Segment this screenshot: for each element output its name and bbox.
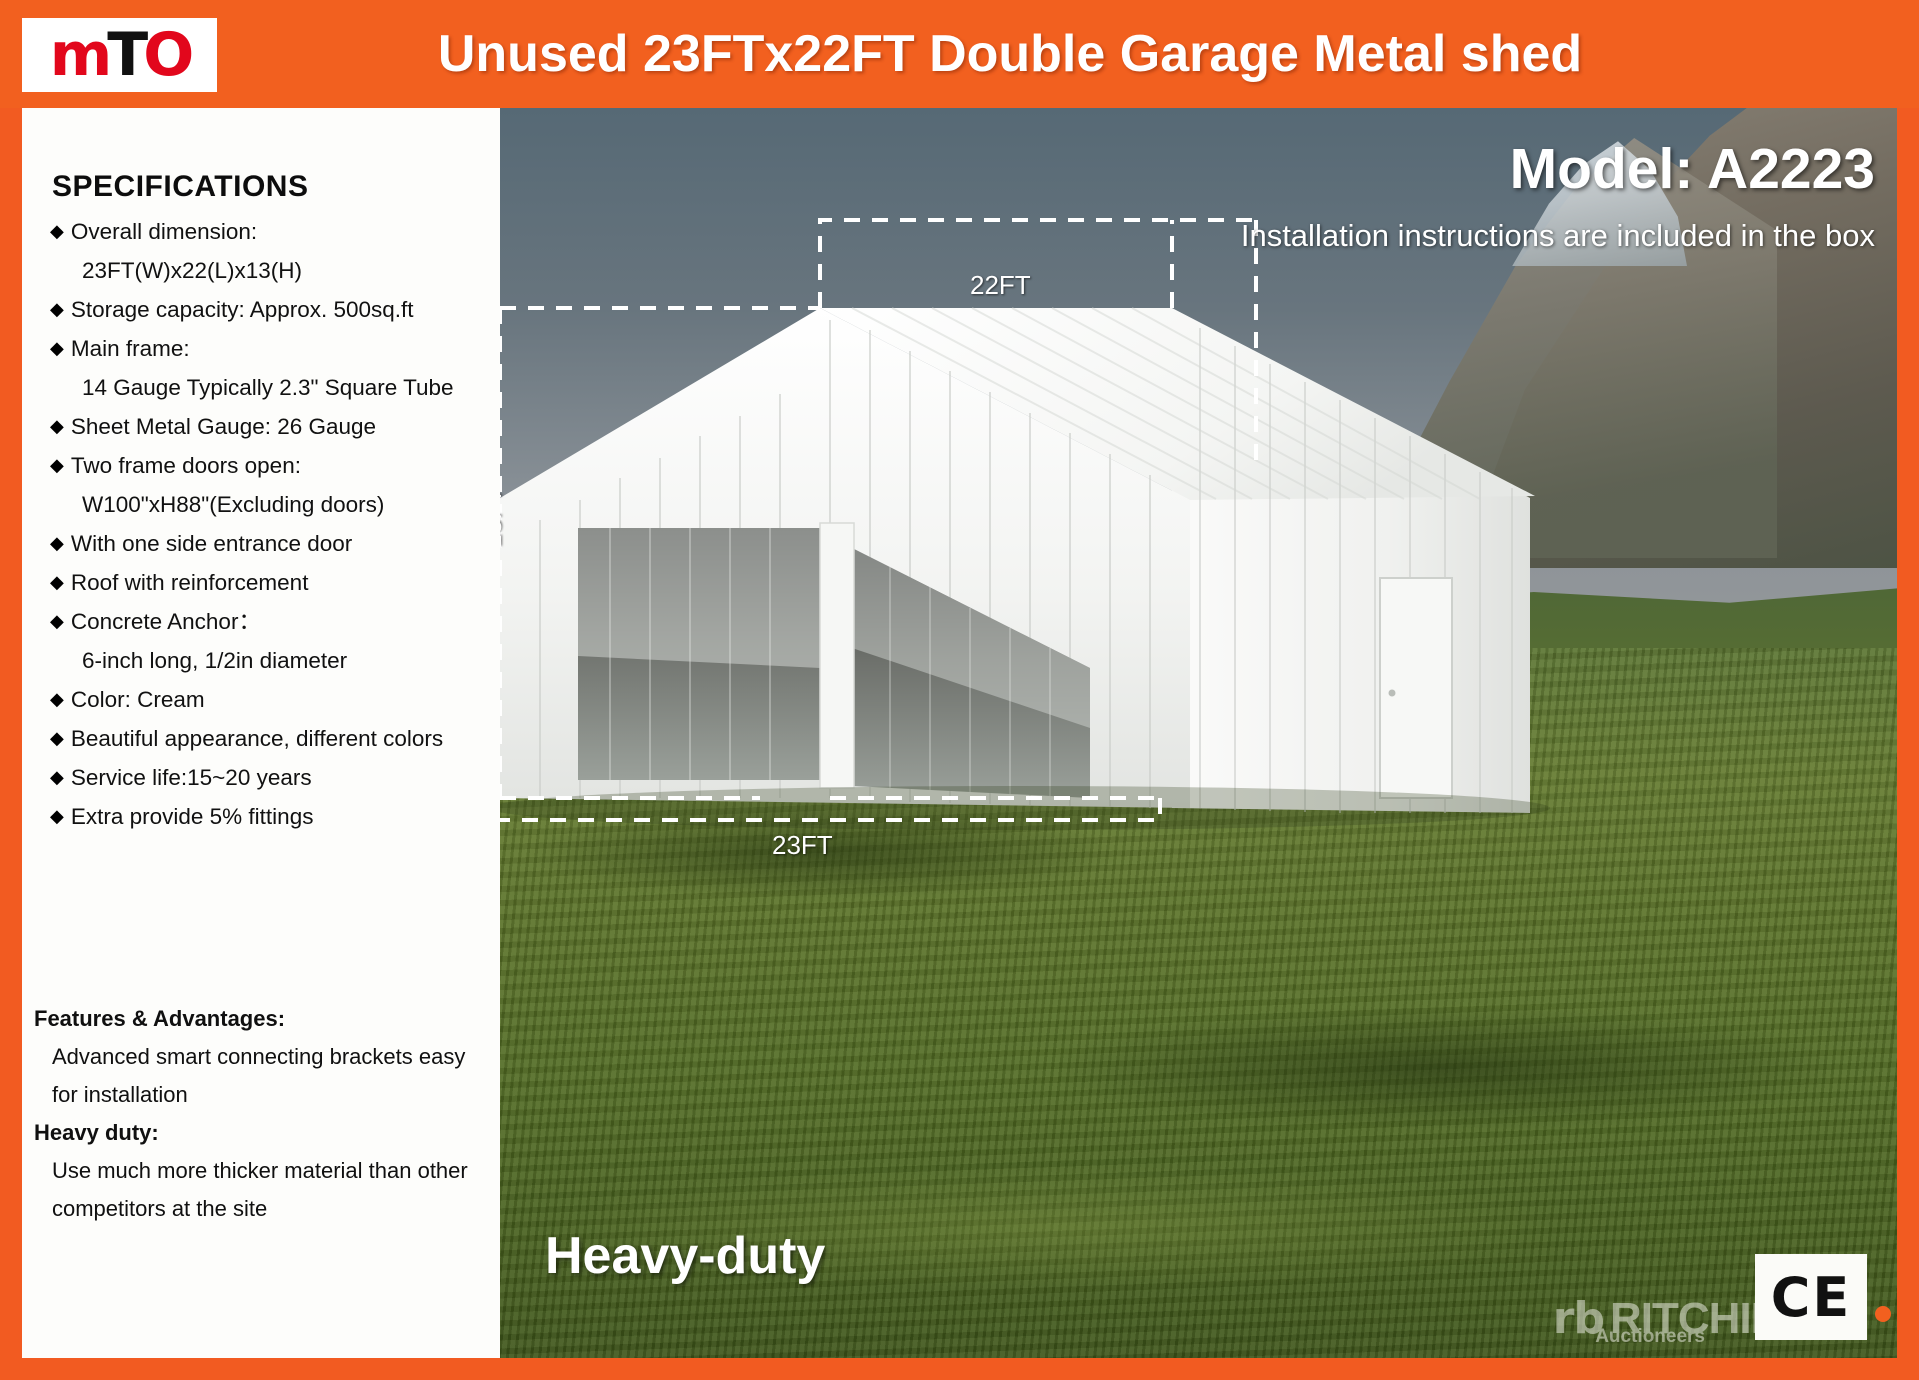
features-line-2: for installation — [34, 1076, 500, 1114]
heavy-duty-line-1: Use much more thicker material than othe… — [34, 1152, 500, 1190]
ce-mark-text: CE — [1771, 1266, 1852, 1329]
orange-dot-decoration — [1875, 1306, 1891, 1322]
model-number: Model: A2223 — [1510, 136, 1875, 202]
installation-note: Installation instructions are included i… — [1241, 218, 1875, 254]
diamond-bullet-icon: ◆ — [50, 407, 64, 446]
features-heading: Features & Advantages: — [34, 1000, 500, 1038]
ce-mark: CE — [1755, 1254, 1867, 1340]
dimension-label-width: 23FT — [772, 830, 833, 861]
diamond-bullet-icon: ◆ — [50, 446, 64, 485]
diamond-bullet-icon: ◆ — [50, 758, 64, 797]
heavy-duty-heading: Heavy duty: — [34, 1114, 500, 1152]
specifications-heading: SPECIFICATIONS — [52, 170, 308, 204]
spec-label: Storage capacity: Approx. 500sq.ft — [71, 290, 414, 329]
diamond-bullet-icon: ◆ — [50, 212, 64, 251]
diamond-bullet-icon: ◆ — [50, 719, 64, 758]
spec-label: Beautiful appearance, different colors — [71, 719, 443, 758]
product-spec-sheet: mTO Unused 23FTx22FT Double Garage Metal… — [0, 0, 1919, 1380]
specifications-list: ◆ Overall dimension: 23FT(W)x22(L)x13(H)… — [50, 212, 500, 836]
list-item: ◆ Two frame doors open: — [50, 446, 500, 485]
spec-label: Service life:15~20 years — [71, 758, 312, 797]
heavy-duty-badge: Heavy-duty — [545, 1226, 825, 1286]
diamond-bullet-icon: ◆ — [50, 290, 64, 329]
dimension-label-height: 13FT — [500, 488, 508, 549]
list-item: ◆ Sheet Metal Gauge: 26 Gauge — [50, 407, 500, 446]
door-handle-icon — [1389, 690, 1396, 697]
spec-label: Overall dimension: — [71, 212, 257, 251]
spec-sub: 23FT(W)x22(L)x13(H) — [50, 251, 500, 290]
spec-label: Extra provide 5% fittings — [71, 797, 314, 836]
spec-label: Two frame doors open: — [71, 446, 301, 485]
diamond-bullet-icon: ◆ — [50, 329, 64, 368]
specifications-panel: SPECIFICATIONS ◆ Overall dimension: 23FT… — [22, 108, 500, 1358]
logo-letter-t: T — [107, 20, 143, 90]
list-item: ◆ Main frame: — [50, 329, 500, 368]
spec-sub: 14 Gauge Typically 2.3" Square Tube — [50, 368, 500, 407]
features-advantages-section: Features & Advantages: Advanced smart co… — [34, 1000, 500, 1228]
watermark-sub-text: Auctioneers — [1595, 1326, 1705, 1348]
ground-shadow — [500, 786, 1550, 830]
mto-logo: mTO — [22, 18, 217, 92]
diamond-bullet-icon: ◆ — [50, 680, 64, 719]
center-pillar — [820, 523, 854, 788]
header-bar: mTO Unused 23FTx22FT Double Garage Metal… — [0, 0, 1919, 108]
spec-label: Concrete Anchor： — [71, 602, 261, 641]
spec-label: With one side entrance door — [71, 524, 352, 563]
ritchie-bros-watermark: rb RITCHIE Auctioneers — [1553, 1293, 1779, 1344]
diamond-bullet-icon: ◆ — [50, 797, 64, 836]
shed-illustration — [500, 108, 1897, 1358]
page-title: Unused 23FTx22FT Double Garage Metal she… — [230, 0, 1790, 108]
list-item: ◆ Overall dimension: — [50, 212, 500, 251]
product-photo: 22FT 23FT 13FT Model: A2223 Installation… — [500, 108, 1897, 1358]
dim-line-22ft-left — [820, 220, 1256, 308]
logo-letter-o: O — [143, 20, 189, 90]
list-item: ◆ Service life:15~20 years — [50, 758, 500, 797]
diamond-bullet-icon: ◆ — [50, 602, 64, 641]
side-entrance-door — [1380, 578, 1452, 798]
spec-label: Color: Cream — [71, 680, 205, 719]
spec-label: Main frame: — [71, 329, 190, 368]
list-item: ◆ Concrete Anchor： — [50, 602, 500, 641]
list-item: ◆ Color: Cream — [50, 680, 500, 719]
spec-sub: 6-inch long, 1/2in diameter — [50, 641, 500, 680]
heavy-duty-line-2: competitors at the site — [34, 1190, 500, 1228]
diamond-bullet-icon: ◆ — [50, 524, 64, 563]
logo-letter-m: m — [50, 20, 108, 90]
logo-wordmark: mTO — [50, 25, 189, 85]
list-item: ◆ Beautiful appearance, different colors — [50, 719, 500, 758]
features-line-1: Advanced smart connecting brackets easy — [34, 1038, 500, 1076]
list-item: ◆ With one side entrance door — [50, 524, 500, 563]
spec-label: Sheet Metal Gauge: 26 Gauge — [71, 407, 376, 446]
dimension-label-depth: 22FT — [970, 270, 1031, 301]
spec-label: Roof with reinforcement — [71, 563, 309, 602]
spec-sub: W100"xH88"(Excluding doors) — [50, 485, 500, 524]
list-item: ◆ Storage capacity: Approx. 500sq.ft — [50, 290, 500, 329]
list-item: ◆ Extra provide 5% fittings — [50, 797, 500, 836]
diamond-bullet-icon: ◆ — [50, 563, 64, 602]
list-item: ◆ Roof with reinforcement — [50, 563, 500, 602]
